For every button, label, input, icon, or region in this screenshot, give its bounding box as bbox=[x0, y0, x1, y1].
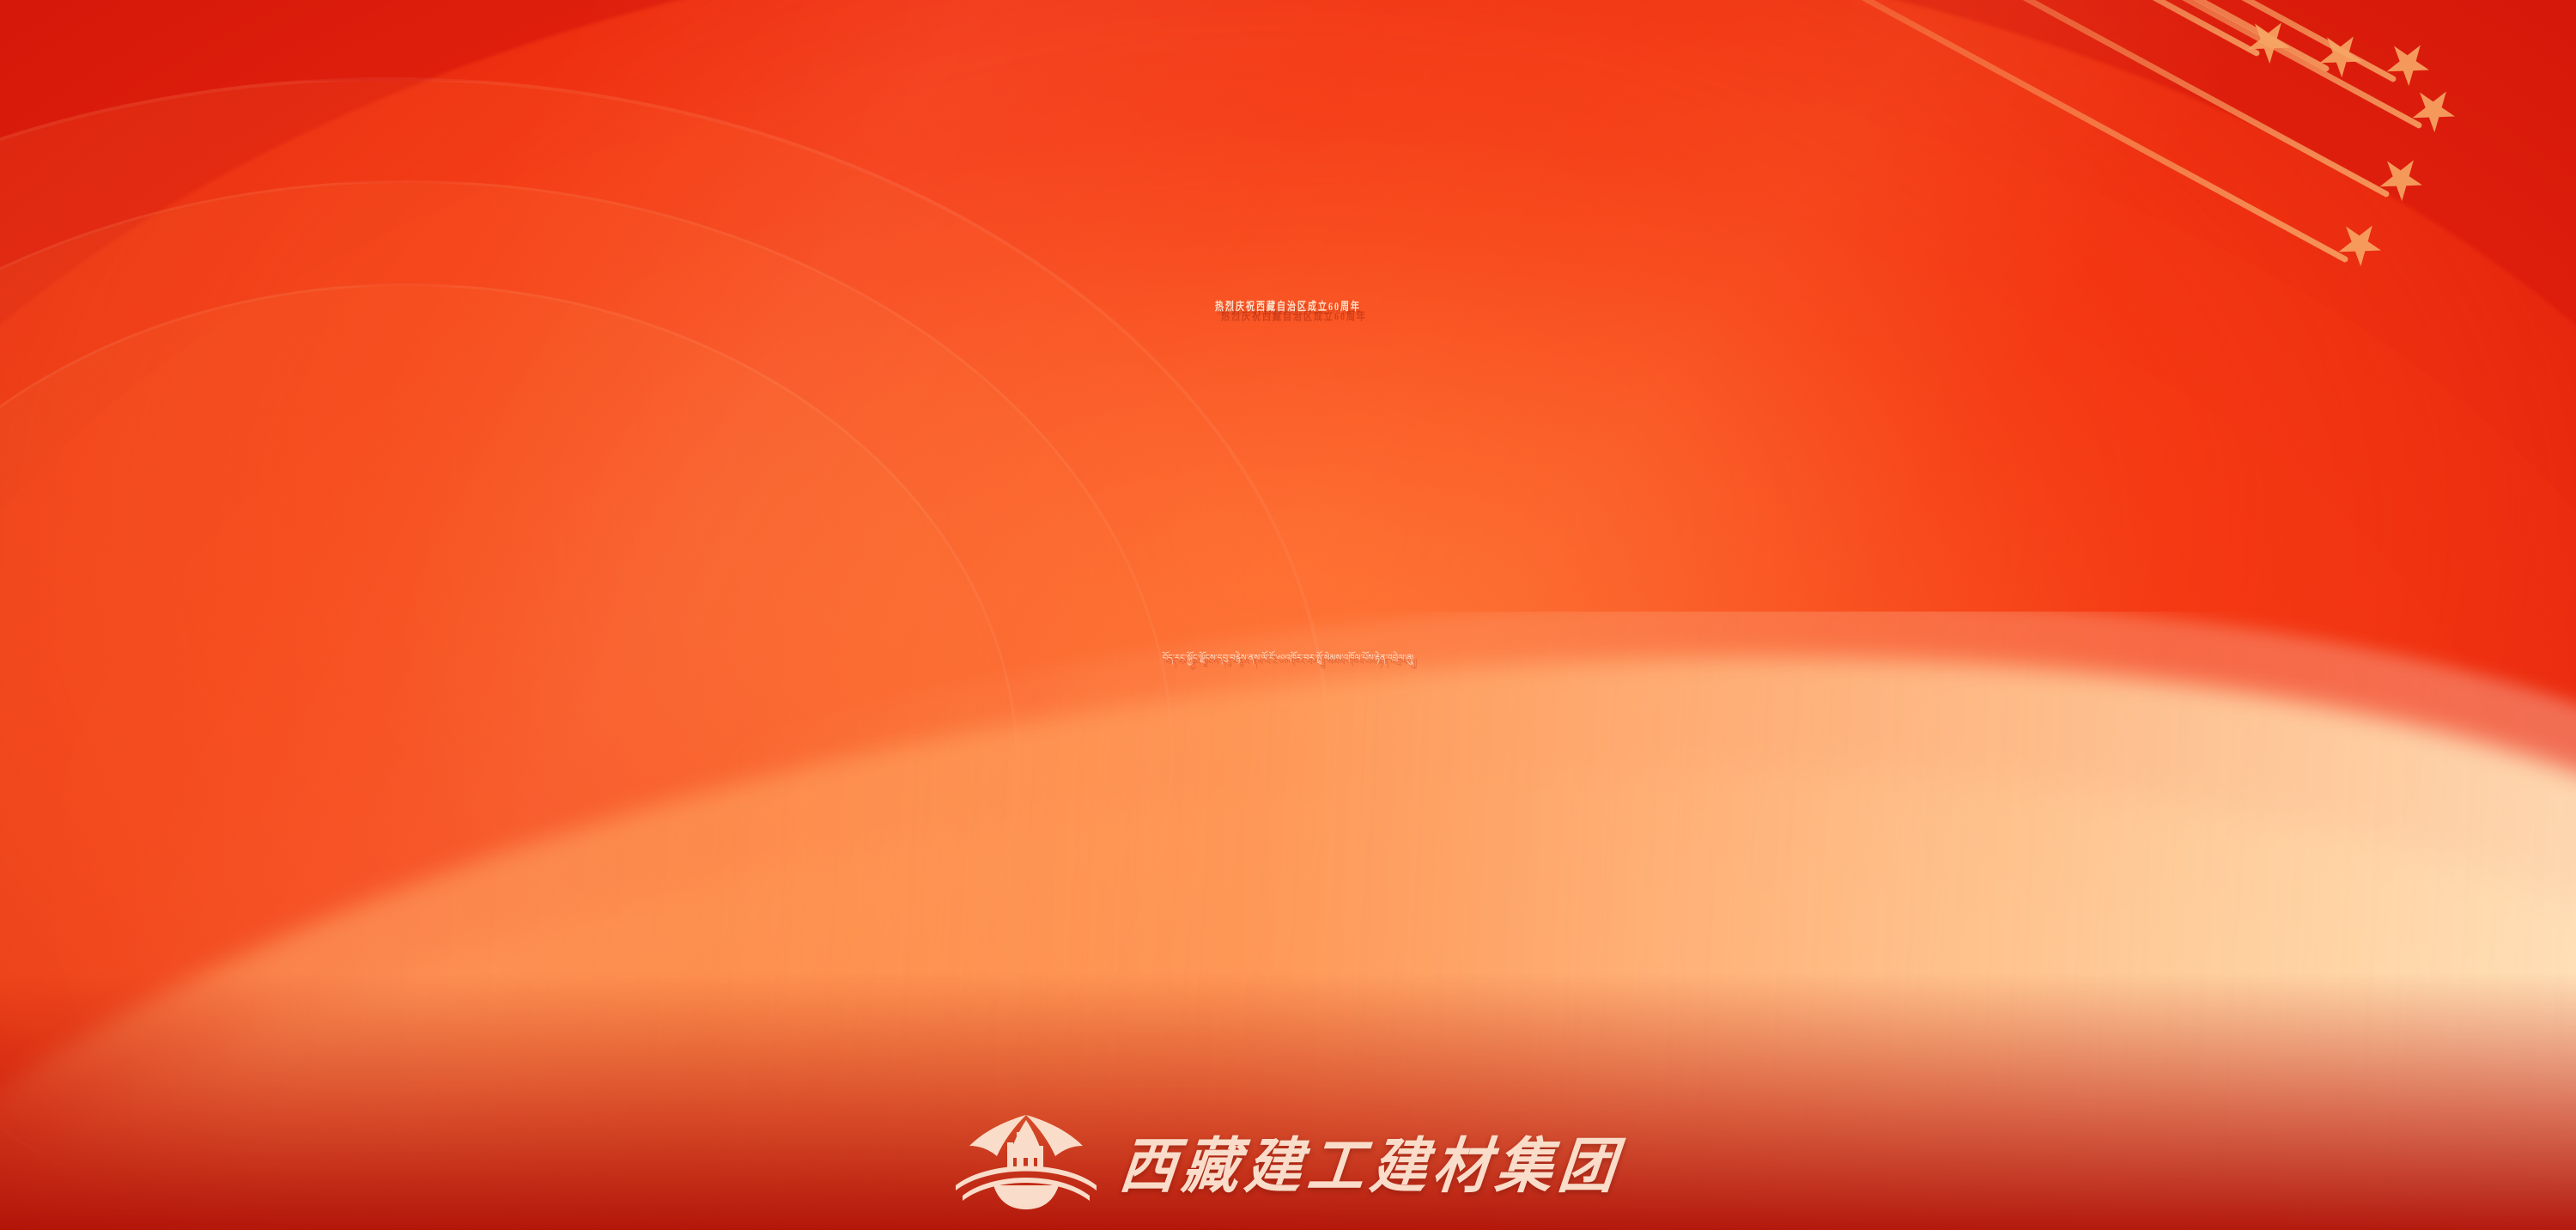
company-name: 西藏建工建材集团 bbox=[1116, 1117, 1627, 1205]
background-dome-outer bbox=[0, 0, 2576, 1230]
shooting-star-icon bbox=[2370, 148, 2433, 210]
background-light-sheen bbox=[0, 0, 2576, 1230]
shooting-stars-group bbox=[1975, 0, 2576, 369]
background-dome-middle bbox=[0, 49, 2576, 1230]
page-title: 热烈庆祝西藏自治区成立60周年 bbox=[0, 302, 2576, 314]
star-trail-icon bbox=[1835, 0, 2260, 58]
company-logo: 西藏建工建材集团 bbox=[954, 1111, 1622, 1211]
shooting-star-icon bbox=[2403, 79, 2465, 142]
shooting-star-icon bbox=[2377, 33, 2439, 95]
celebration-poster: 热烈庆祝西藏自治区成立60周年 བོད་རང་སྐྱོང་ལྗོངས་དབུ་བ… bbox=[0, 0, 2576, 1230]
background-arc-2 bbox=[0, 180, 1173, 1230]
shooting-star-icon bbox=[2238, 10, 2300, 73]
star-trail-icon bbox=[1829, 0, 2330, 73]
star-trail-icon bbox=[1622, 0, 2349, 264]
background-dome-inner bbox=[52, 172, 2524, 1230]
star-trail-icon bbox=[1708, 0, 2390, 198]
background-arc-3 bbox=[0, 283, 1018, 1230]
shooting-star-icon bbox=[2329, 213, 2391, 276]
tibetan-subtitle: བོད་རང་སྐྱོང་ལྗོངས་དབུ་བརྙེས་ནས་ལོ་ངོ་༦༠… bbox=[0, 653, 2576, 665]
shooting-star-icon bbox=[2310, 24, 2372, 87]
star-trail-icon bbox=[1820, 0, 2397, 83]
star-trail-icon bbox=[1816, 0, 2422, 130]
background-light-sheen-secondary bbox=[0, 0, 2576, 1230]
snow-mountain-arch-icon bbox=[954, 1111, 1098, 1211]
